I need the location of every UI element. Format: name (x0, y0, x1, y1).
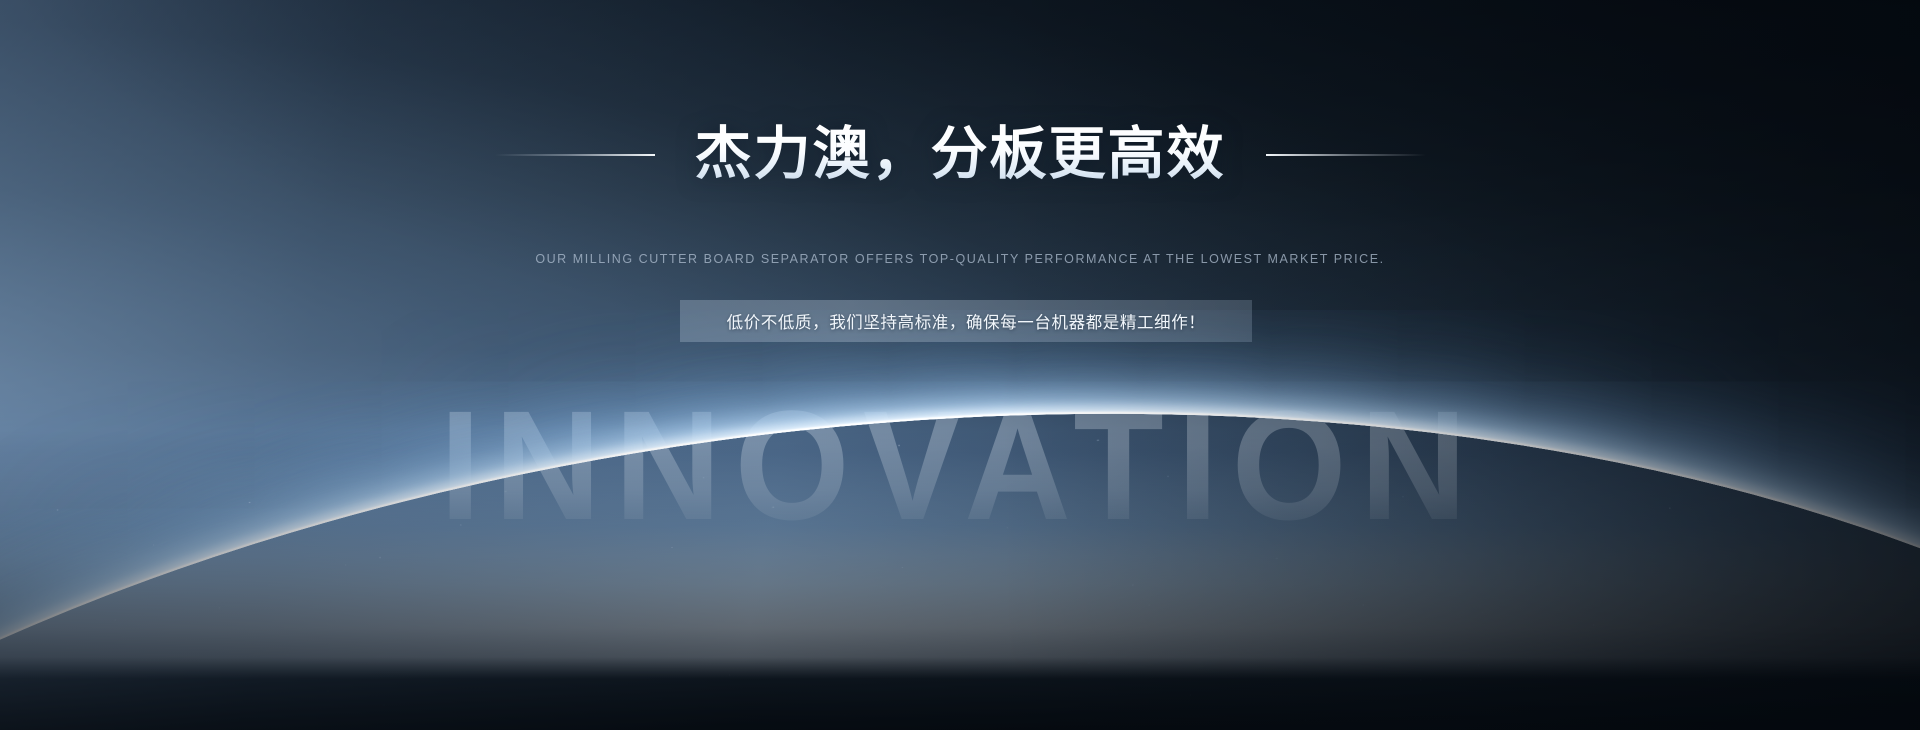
hero-subtitle: OUR MILLING CUTTER BOARD SEPARATOR OFFER… (0, 252, 1920, 266)
slogan-text: 低价不低质，我们坚持高标准，确保每一台机器都是精工细作！ (727, 309, 1206, 333)
hero-content: 杰力澳，分板更高效 OUR MILLING CUTTER BOARD SEPAR… (0, 0, 1920, 730)
hero-banner: INNOVATION 杰力澳，分板更高效 OUR MILLING CUTTER … (0, 0, 1920, 730)
slogan-bar: 低价不低质，我们坚持高标准，确保每一台机器都是精工细作！ (680, 300, 1252, 342)
page-title: 杰力澳，分板更高效 (695, 124, 1226, 186)
headline-row: 杰力澳，分板更高效 (0, 124, 1920, 186)
decorative-rule-right-icon (1266, 154, 1426, 156)
decorative-rule-left-icon (495, 154, 655, 156)
